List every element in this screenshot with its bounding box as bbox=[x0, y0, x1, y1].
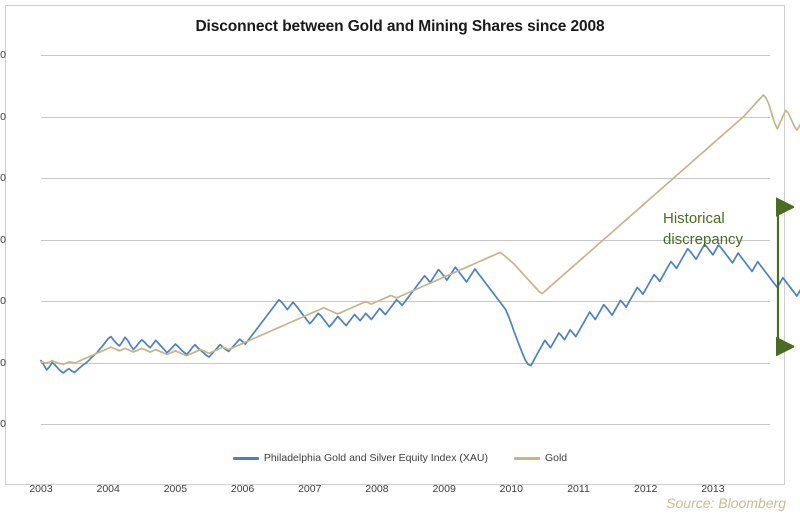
legend-item[interactable]: Philadelphia Gold and Silver Equity Inde… bbox=[233, 452, 488, 464]
y-axis-tick-label: 400 bbox=[0, 172, 6, 184]
x-axis-tick-label: 2012 bbox=[634, 483, 657, 495]
historical-discrepancy-annotation: Historical discrepancy bbox=[663, 208, 775, 251]
x-axis-tick-label: 2009 bbox=[432, 483, 455, 495]
series-lines bbox=[41, 55, 770, 424]
discrepancy-double-arrow-icon bbox=[762, 197, 794, 357]
chart-legend: Philadelphia Gold and Silver Equity Inde… bbox=[0, 452, 800, 464]
x-axis-tick-label: 2010 bbox=[500, 483, 523, 495]
annotation-line-1: Historical bbox=[663, 208, 775, 229]
plot-area: 0100200300400500600 20032004200520062007… bbox=[41, 55, 770, 424]
legend-item[interactable]: Gold bbox=[514, 452, 567, 464]
legend-label: Gold bbox=[545, 452, 567, 464]
x-axis-tick-label: 2008 bbox=[365, 483, 388, 495]
y-axis-tick-label: 100 bbox=[0, 357, 6, 369]
chart-page: Disconnect between Gold and Mining Share… bbox=[0, 0, 800, 525]
y-axis-tick-label: 500 bbox=[0, 111, 6, 123]
y-axis-tick-label: 0 bbox=[0, 418, 6, 430]
y-axis-tick-label: 200 bbox=[0, 295, 6, 307]
x-axis-tick-label: 2013 bbox=[701, 483, 724, 495]
x-axis-tick-label: 2011 bbox=[567, 483, 590, 495]
legend-label: Philadelphia Gold and Silver Equity Inde… bbox=[264, 452, 488, 464]
legend-swatch bbox=[233, 457, 259, 460]
x-axis-tick-label: 2003 bbox=[29, 483, 52, 495]
annotation-line-2: discrepancy bbox=[663, 229, 775, 250]
y-axis-tick-label: 300 bbox=[0, 234, 6, 246]
x-axis-tick-label: 2007 bbox=[298, 483, 321, 495]
legend-swatch bbox=[514, 457, 540, 460]
chart-title: Disconnect between Gold and Mining Share… bbox=[0, 18, 800, 36]
y-axis-tick-label: 600 bbox=[0, 49, 6, 61]
x-axis-tick-label: 2005 bbox=[164, 483, 187, 495]
x-axis-tick-label: 2006 bbox=[231, 483, 254, 495]
series-line bbox=[41, 244, 800, 373]
source-note: Source: Bloomberg bbox=[666, 495, 786, 511]
x-axis-tick-label: 2004 bbox=[97, 483, 120, 495]
gridline bbox=[41, 424, 770, 425]
